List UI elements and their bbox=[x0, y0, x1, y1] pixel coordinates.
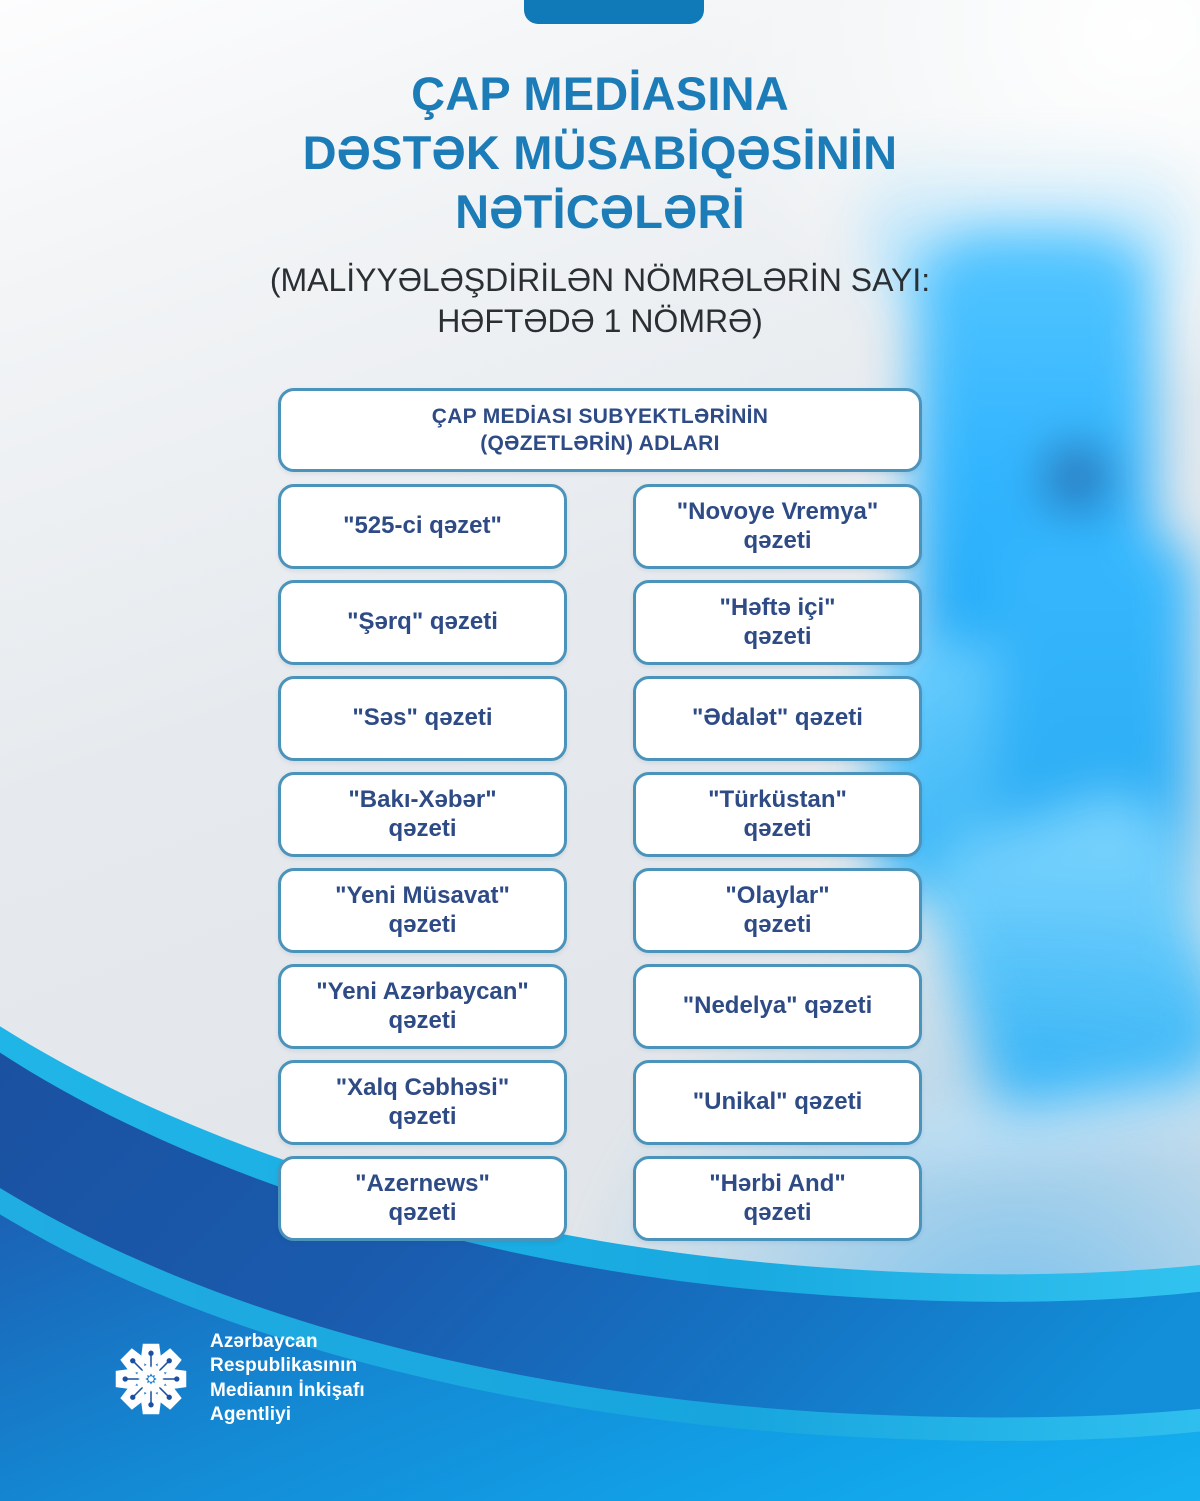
list-row: "525-ci qəzet" "Novoye Vremya" qəzeti bbox=[278, 484, 922, 569]
list-item: "Ədalət" qəzeti bbox=[633, 676, 922, 761]
top-tab-decoration bbox=[524, 0, 704, 24]
decorative-blob-dot bbox=[1050, 450, 1104, 504]
list-item: "Yeni Müsavat" qəzeti bbox=[278, 868, 567, 953]
page-title: ÇAP MEDİASINA DƏSTƏK MÜSABİQƏSİNİN NƏTİC… bbox=[0, 64, 1200, 242]
list-item: "Nedelya" qəzeti bbox=[633, 964, 922, 1049]
list-item: "Xalq Cəbhəsi" qəzeti bbox=[278, 1060, 567, 1145]
list-item: "Bakı-Xəbər" qəzeti bbox=[278, 772, 567, 857]
eight-petal-pen-nib-rosette-icon bbox=[108, 1336, 194, 1422]
list-row: "Xalq Cəbhəsi" qəzeti "Unikal" qəzeti bbox=[278, 1060, 922, 1145]
poster-canvas: ÇAP MEDİASINA DƏSTƏK MÜSABİQƏSİNİN NƏTİC… bbox=[0, 0, 1200, 1501]
agency-name: Azərbaycan Respublikasının Medianın İnki… bbox=[210, 1330, 365, 1427]
list-row: "Səs" qəzeti "Ədalət" qəzeti bbox=[278, 676, 922, 761]
page-subtitle: (MALİYYƏLƏŞDİRİLƏN NÖMRƏLƏRİN SAYI: HƏFT… bbox=[0, 260, 1200, 342]
list-item: "Hərbi And" qəzeti bbox=[633, 1156, 922, 1241]
list-column-header: ÇAP MEDİASI SUBYEKTLƏRİNİN (QƏZETLƏRİN) … bbox=[278, 388, 922, 472]
list-item: "Olaylar" qəzeti bbox=[633, 868, 922, 953]
list-row: "Azernews" qəzeti "Hərbi And" qəzeti bbox=[278, 1156, 922, 1241]
list-item: "Şərq" qəzeti bbox=[278, 580, 567, 665]
list-item: "Həftə içi" qəzeti bbox=[633, 580, 922, 665]
list-item: "Yeni Azərbaycan" qəzeti bbox=[278, 964, 567, 1049]
list-item: "Səs" qəzeti bbox=[278, 676, 567, 761]
list-item: "Azernews" qəzeti bbox=[278, 1156, 567, 1241]
poster-header: ÇAP MEDİASINA DƏSTƏK MÜSABİQƏSİNİN NƏTİC… bbox=[0, 64, 1200, 342]
agency-logo-block: Azərbaycan Respublikasının Medianın İnki… bbox=[108, 1330, 365, 1427]
list-item: "525-ci qəzet" bbox=[278, 484, 567, 569]
list-row: "Bakı-Xəbər" qəzeti "Türküstan" qəzeti bbox=[278, 772, 922, 857]
list-item: "Novoye Vremya" qəzeti bbox=[633, 484, 922, 569]
list-row: "Yeni Müsavat" qəzeti "Olaylar" qəzeti bbox=[278, 868, 922, 953]
list-item: "Türküstan" qəzeti bbox=[633, 772, 922, 857]
list-row: "Şərq" qəzeti "Həftə içi" qəzeti bbox=[278, 580, 922, 665]
newspaper-list: ÇAP MEDİASI SUBYEKTLƏRİNİN (QƏZETLƏRİN) … bbox=[278, 388, 922, 1252]
list-row: "Yeni Azərbaycan" qəzeti "Nedelya" qəzet… bbox=[278, 964, 922, 1049]
list-item: "Unikal" qəzeti bbox=[633, 1060, 922, 1145]
